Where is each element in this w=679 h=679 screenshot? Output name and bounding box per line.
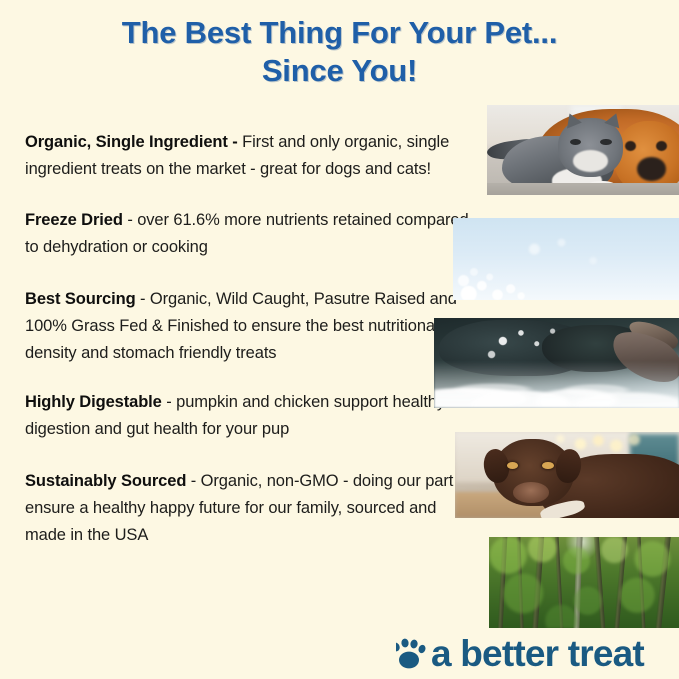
- feature-item-best-sourcing: Best Sourcing - Organic, Wild Caught, Pa…: [25, 286, 475, 367]
- photo-detail-ice-crystals: [453, 249, 584, 300]
- green-forest-photo: [489, 537, 679, 628]
- feature-lead: Best Sourcing: [25, 290, 136, 308]
- feature-item-freeze-dried: Freeze Dried - over 61.6% more nutrients…: [25, 207, 475, 261]
- photo-detail-foliage: [489, 537, 679, 628]
- feature-lead: Organic, Single Ingredient -: [25, 133, 238, 151]
- page-title-line-1: The Best Thing For Your Pet...: [0, 14, 679, 52]
- photo-detail-dog-eye: [507, 462, 518, 469]
- photo-detail-white-water: [434, 361, 679, 408]
- feature-list: Organic, Single Ingredient - First and o…: [25, 112, 475, 549]
- photo-detail-cat-muzzle: [573, 150, 608, 172]
- feature-item-highly-digestable: Highly Digestable - pumpkin and chicken …: [25, 389, 475, 443]
- photo-detail-floor: [487, 183, 679, 195]
- photo-detail-dog-eye: [625, 141, 636, 151]
- page-title: The Best Thing For Your Pet... Since You…: [0, 14, 679, 90]
- photo-detail-dog-snout: [513, 482, 549, 503]
- feature-item-sustainably-sourced: Sustainably Sourced - Organic, non-GMO -…: [25, 468, 475, 549]
- feature-lead: Highly Digestable: [25, 393, 162, 411]
- paw-print-icon: [396, 637, 430, 671]
- brand-logo: a better treat: [396, 632, 671, 676]
- chocolate-labrador-photo: [455, 432, 679, 518]
- brand-logo-text: a better treat: [431, 634, 644, 674]
- feature-item-organic-single-ingredient: Organic, Single Ingredient - First and o…: [25, 129, 475, 183]
- cat-and-golden-retriever-photo: [487, 105, 679, 195]
- feature-lead: Freeze Dried: [25, 211, 123, 229]
- photo-detail-dog-snout: [637, 157, 666, 180]
- photo-detail-dog-eye: [656, 141, 667, 151]
- salmon-in-rapids-photo: [434, 318, 679, 408]
- frost-ice-crystals-photo: [453, 218, 679, 300]
- page-title-line-2: Since You!: [0, 52, 679, 90]
- photo-detail-dog-eye: [542, 462, 553, 469]
- feature-lead: Sustainably Sourced: [25, 472, 186, 490]
